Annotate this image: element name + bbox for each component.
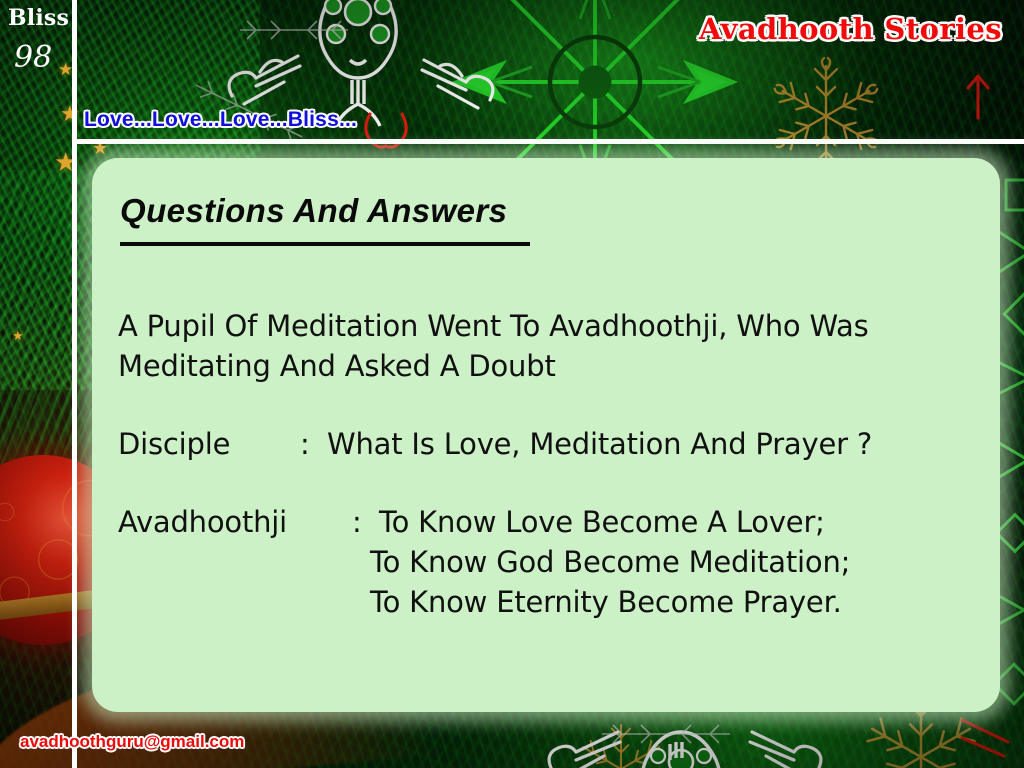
dialogue-colon: : xyxy=(352,502,370,542)
page-title: Questions And Answers xyxy=(120,192,507,230)
dialogue-entry: Disciple: What Is Love, Meditation And P… xyxy=(118,424,978,464)
intro-text: A Pupil Of Meditation Went To Avadhoothj… xyxy=(118,309,869,383)
intro-paragraph: A Pupil Of Meditation Went To Avadhoothj… xyxy=(118,306,978,386)
dialogue-first-line: Disciple: What Is Love, Meditation And P… xyxy=(118,424,978,464)
dialogue-first-line: Avadhoothji: To Know Love Become A Lover… xyxy=(118,502,978,542)
paragraph-gap-2 xyxy=(118,464,978,502)
page-title-underline xyxy=(120,242,530,246)
dialogue-block: Disciple: What Is Love, Meditation And P… xyxy=(118,424,978,622)
dialogue-entry: Avadhoothji: To Know Love Become A Lover… xyxy=(118,502,978,622)
contact-email: avadhoothguru@gmail.com xyxy=(20,732,244,752)
dialogue-line: To Know Love Become A Lover; xyxy=(370,502,825,542)
content-body: A Pupil Of Meditation Went To Avadhoothj… xyxy=(118,306,978,622)
dialogue-speaker: Avadhoothji xyxy=(118,502,352,542)
dialogue-line: To Know God Become Meditation; xyxy=(118,542,978,582)
header-divider-vertical xyxy=(72,0,77,768)
content-panel: Questions And Answers A Pupil Of Meditat… xyxy=(92,158,1000,712)
slide-canvas: ★★★★★ Bliss 98 Love...Love...Love...Blis… xyxy=(0,0,1024,768)
slide-number: 98 xyxy=(14,40,52,75)
paragraph-gap-1 xyxy=(118,386,978,424)
dialogue-colon: : xyxy=(300,424,318,464)
dialogue-line: What Is Love, Meditation And Prayer ? xyxy=(318,424,872,464)
series-label: Bliss xyxy=(8,5,69,31)
header-divider-horizontal xyxy=(72,139,1024,144)
dialogue-speaker: Disciple xyxy=(118,424,300,464)
marquee-text: Love...Love...Love...Bliss... xyxy=(84,108,357,132)
brand-title: Avadhooth Stories xyxy=(699,12,1002,46)
dialogue-line: To Know Eternity Become Prayer. xyxy=(118,582,978,622)
gold-star-icon: ★ xyxy=(12,330,24,343)
